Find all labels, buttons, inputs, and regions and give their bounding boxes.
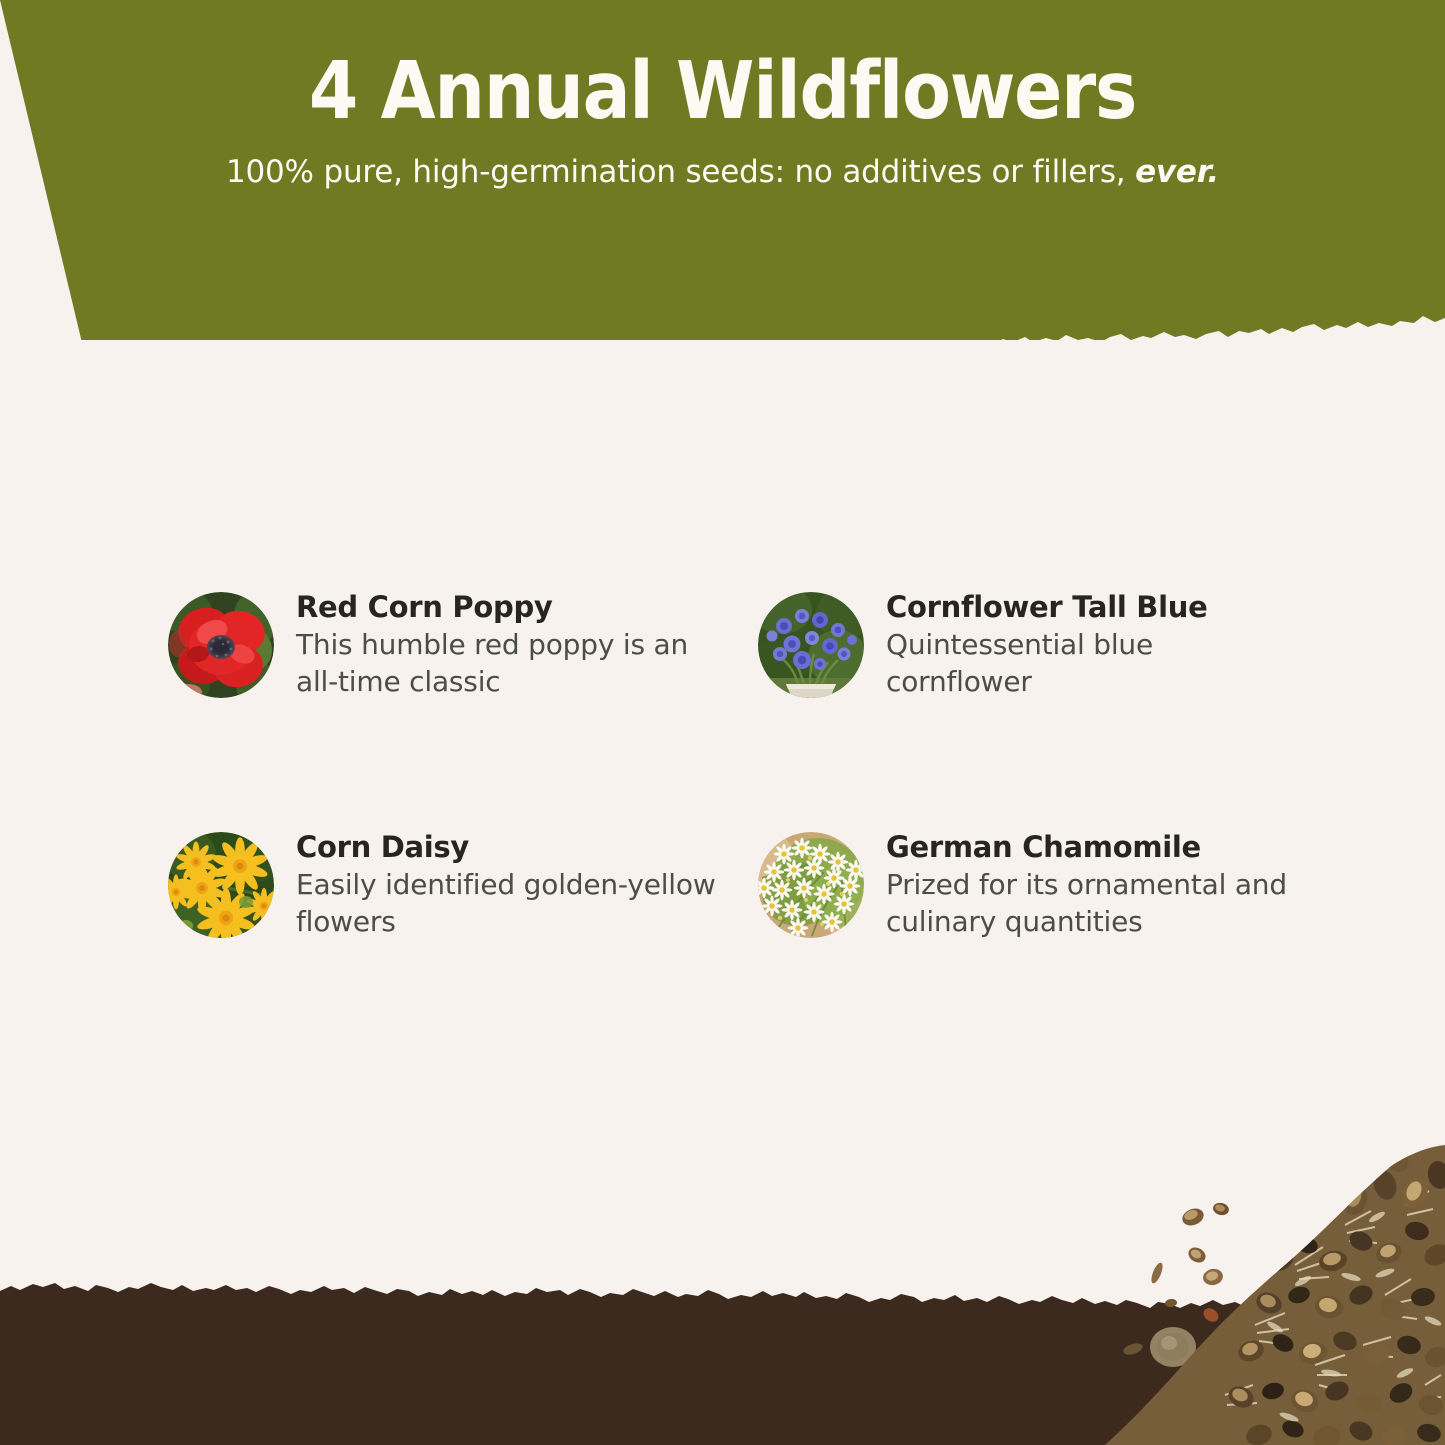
flower-item-red-corn-poppy[interactable]: Red Corn Poppy This humble red poppy is …: [168, 588, 758, 828]
german-chamomile-photo-icon: [758, 832, 864, 938]
red-poppy-photo-icon: [168, 592, 274, 698]
flower-copy: Corn Daisy Easily identified golden-yell…: [296, 828, 736, 941]
flower-description: Prized for its ornamental and culinary q…: [886, 867, 1306, 941]
footer-band: [0, 1245, 1445, 1445]
flower-name: German Chamomile: [886, 830, 1306, 864]
flower-item-corn-daisy[interactable]: Corn Daisy Easily identified golden-yell…: [168, 828, 758, 1068]
flower-copy: Cornflower Tall Blue Quintessential blue…: [886, 588, 1306, 701]
flower-item-german-chamomile[interactable]: German Chamomile Prized for its ornament…: [758, 828, 1348, 1068]
flower-grid: Red Corn Poppy This humble red poppy is …: [168, 588, 1348, 1068]
header-olive-fill: [0, 0, 1445, 340]
flower-copy: Red Corn Poppy This humble red poppy is …: [296, 588, 736, 701]
yellow-corn-daisy-photo-icon: [168, 832, 274, 938]
flower-copy: German Chamomile Prized for its ornament…: [886, 828, 1306, 941]
product-infographic: 4 Annual Wildflowers 100% pure, high-ger…: [0, 0, 1445, 1445]
flower-description: Easily identified golden-yellow flowers: [296, 867, 736, 941]
flower-description: Quintessential blue cornflower: [886, 627, 1306, 701]
flower-item-cornflower-tall-blue[interactable]: Cornflower Tall Blue Quintessential blue…: [758, 588, 1348, 828]
flower-name: Cornflower Tall Blue: [886, 590, 1306, 624]
blue-cornflower-photo-icon: [758, 592, 864, 698]
header-band: 4 Annual Wildflowers 100% pure, high-ger…: [0, 0, 1445, 340]
flower-name: Corn Daisy: [296, 830, 736, 864]
flower-list-section: Red Corn Poppy This humble red poppy is …: [0, 340, 1445, 1280]
flower-name: Red Corn Poppy: [296, 590, 736, 624]
flower-description: This humble red poppy is an all-time cla…: [296, 627, 736, 701]
